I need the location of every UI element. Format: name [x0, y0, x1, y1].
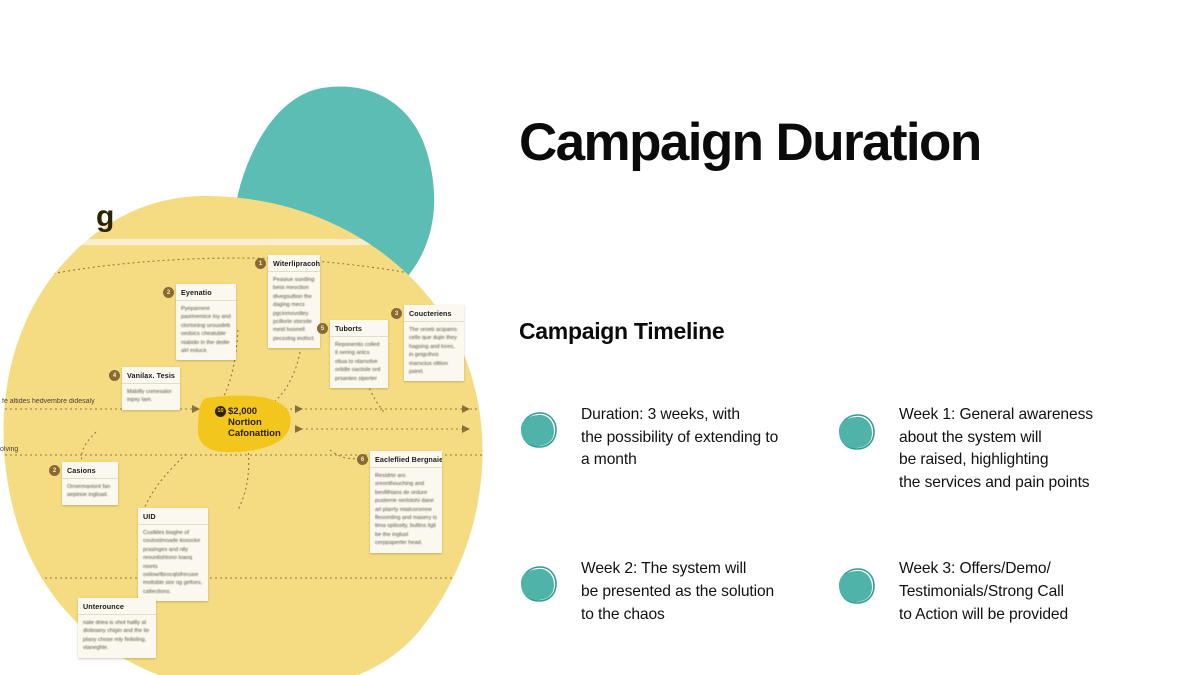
slide-root: g 10 $2,000 Nortion Cafonattion fe altid…: [0, 0, 1200, 675]
card-body-1: Peasiue sunding beisi meoction divegsult…: [268, 272, 320, 348]
card-badge-3: 3: [391, 308, 402, 319]
teal-blob-icon: [837, 412, 877, 452]
card-badge-1: 1: [255, 258, 266, 269]
card-body-2: Pyeparnere pasrinemice loy and clortonin…: [176, 301, 236, 360]
timeline-item-week-1[interactable]: Week 1: General awareness about the syst…: [837, 398, 1139, 494]
card-body-3: The oroeb acipams cello que dujin they h…: [404, 322, 464, 381]
card-body-9: nate driea is vhot hallly at dioboany ch…: [78, 615, 156, 658]
card-badge-6: 6: [357, 454, 368, 465]
row-spacer: [519, 494, 1139, 552]
mindmap-card-1[interactable]: 1 Witerlipracoh Peasiue sunding beisi me…: [268, 255, 320, 348]
card-title-1: Witerlipracoh: [268, 255, 320, 272]
card-badge-5: 5: [317, 323, 328, 334]
timeline-item-week-3[interactable]: Week 3: Offers/Demo/ Testimonials/Strong…: [837, 552, 1139, 626]
hub-amount: $2,000: [228, 406, 281, 417]
card-body-6: Residrte aro sreonthouching and beofilhi…: [370, 468, 442, 553]
teal-blob-icon: [519, 410, 559, 450]
card-title-5: Tuborts: [330, 320, 388, 337]
mindmap-card-8[interactable]: UID Custkles biaghe of coutostmoade koso…: [138, 508, 208, 601]
card-body-5: Reponentis colled it oering anlcs otiua …: [330, 337, 388, 388]
card-title-9: Unterounce: [78, 598, 156, 615]
flow-label-1: olving: [0, 446, 18, 453]
card-title-3: Coucteriens: [404, 305, 464, 322]
mindmap-card-3[interactable]: 3 Coucteriens The oroeb acipams cello qu…: [404, 305, 464, 381]
mindmap-card-5[interactable]: 5 Tuborts Reponentis colled it oering an…: [330, 320, 388, 388]
mindmap-card-2[interactable]: 2 Eyenatio Pyeparnere pasrinemice loy an…: [176, 284, 236, 360]
hub-line-2: Nortion: [228, 417, 281, 428]
timeline-row-1: Duration: 3 weeks, with the possibility …: [519, 398, 1139, 494]
section-subtitle: Campaign Timeline: [519, 318, 724, 345]
timeline-text-duration: Duration: 3 weeks, with the possibility …: [581, 398, 778, 472]
card-badge-7: 2: [49, 465, 60, 476]
mindmap-card-6[interactable]: 6 Eacleflied Bergnaies Residrte aro sreo…: [370, 451, 442, 553]
teal-blob-icon: [519, 564, 559, 604]
card-badge-2: 2: [163, 287, 174, 298]
mindmap-graphic: g 10 $2,000 Nortion Cafonattion fe altid…: [0, 0, 510, 675]
mindmap-card-9[interactable]: Unterounce nate driea is vhot hallly at …: [78, 598, 156, 658]
poster-title-fragment: g: [96, 200, 114, 234]
card-title-4: Vanilax. Tesis: [122, 367, 180, 384]
card-title-7: Casions: [62, 462, 118, 479]
page-title: Campaign Duration: [519, 115, 1119, 171]
timeline-text-week-3: Week 3: Offers/Demo/ Testimonials/Strong…: [899, 552, 1068, 626]
hub-badge: 10: [215, 406, 226, 417]
poster-header-divider: [0, 239, 510, 245]
timeline-text-week-2: Week 2: The system will be presented as …: [581, 552, 774, 626]
timeline-row-2: Week 2: The system will be presented as …: [519, 552, 1139, 626]
mindmap-card-7[interactable]: 2 Casions Ornermanisnt fan aepinoe inglo…: [62, 462, 118, 505]
card-title-6: Eacleflied Bergnaies: [370, 451, 442, 468]
card-badge-4: 4: [109, 370, 120, 381]
card-body-7: Ornermanisnt fan aepinoe ingload.: [62, 479, 118, 505]
timeline-text-week-1: Week 1: General awareness about the syst…: [899, 398, 1093, 494]
card-body-8: Custkles biaghe of coutostmoade kosocke …: [138, 525, 208, 601]
mindmap-card-4[interactable]: 4 Vanilax. Tesis Mabilly comesalor inpxy…: [122, 367, 180, 410]
card-title-8: UID: [138, 508, 208, 525]
hub-label: 10 $2,000 Nortion Cafonattion: [228, 406, 281, 440]
timeline-item-duration[interactable]: Duration: 3 weeks, with the possibility …: [519, 398, 837, 494]
hub-line-3: Cafonattion: [228, 428, 281, 439]
timeline-item-week-2[interactable]: Week 2: The system will be presented as …: [519, 552, 837, 626]
teal-blob-icon: [837, 566, 877, 606]
card-title-2: Eyenatio: [176, 284, 236, 301]
card-body-4: Mabilly comesalor inpxy lam.: [122, 384, 180, 410]
timeline-bullets: Duration: 3 weeks, with the possibility …: [519, 398, 1139, 626]
flow-label-0: fe altides hedvembre didesaly: [2, 398, 95, 405]
